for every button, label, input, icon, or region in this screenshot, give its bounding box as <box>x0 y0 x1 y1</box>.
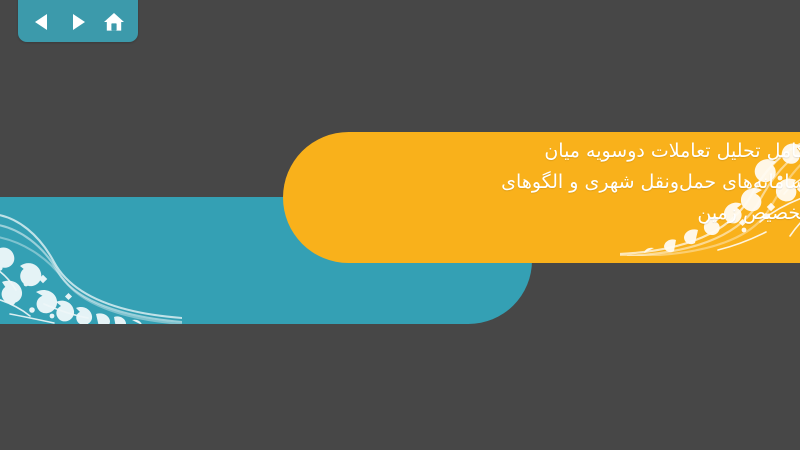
back-button[interactable] <box>27 9 57 35</box>
title-line-1: کامل تحلیل تعاملات دوسویه میان <box>326 136 800 167</box>
triangle-right-icon <box>68 12 88 32</box>
teal-banner-ornament-icon <box>0 206 182 324</box>
forward-button[interactable] <box>63 9 93 35</box>
triangle-left-icon <box>32 12 52 32</box>
home-icon <box>103 12 125 32</box>
home-button[interactable] <box>99 9 129 35</box>
slide-canvas: کامل تحلیل تعاملات دوسویه میان سامانه‌ها… <box>0 0 800 450</box>
slide-title: کامل تحلیل تعاملات دوسویه میان سامانه‌ها… <box>326 136 800 229</box>
navigation-bar <box>18 0 138 42</box>
title-line-3: تخصیص زمین <box>326 198 800 229</box>
title-line-2: سامانه‌های حمل‌ونقل شهری و الگوهای <box>326 167 800 198</box>
yellow-banner: کامل تحلیل تعاملات دوسویه میان سامانه‌ها… <box>283 132 800 263</box>
